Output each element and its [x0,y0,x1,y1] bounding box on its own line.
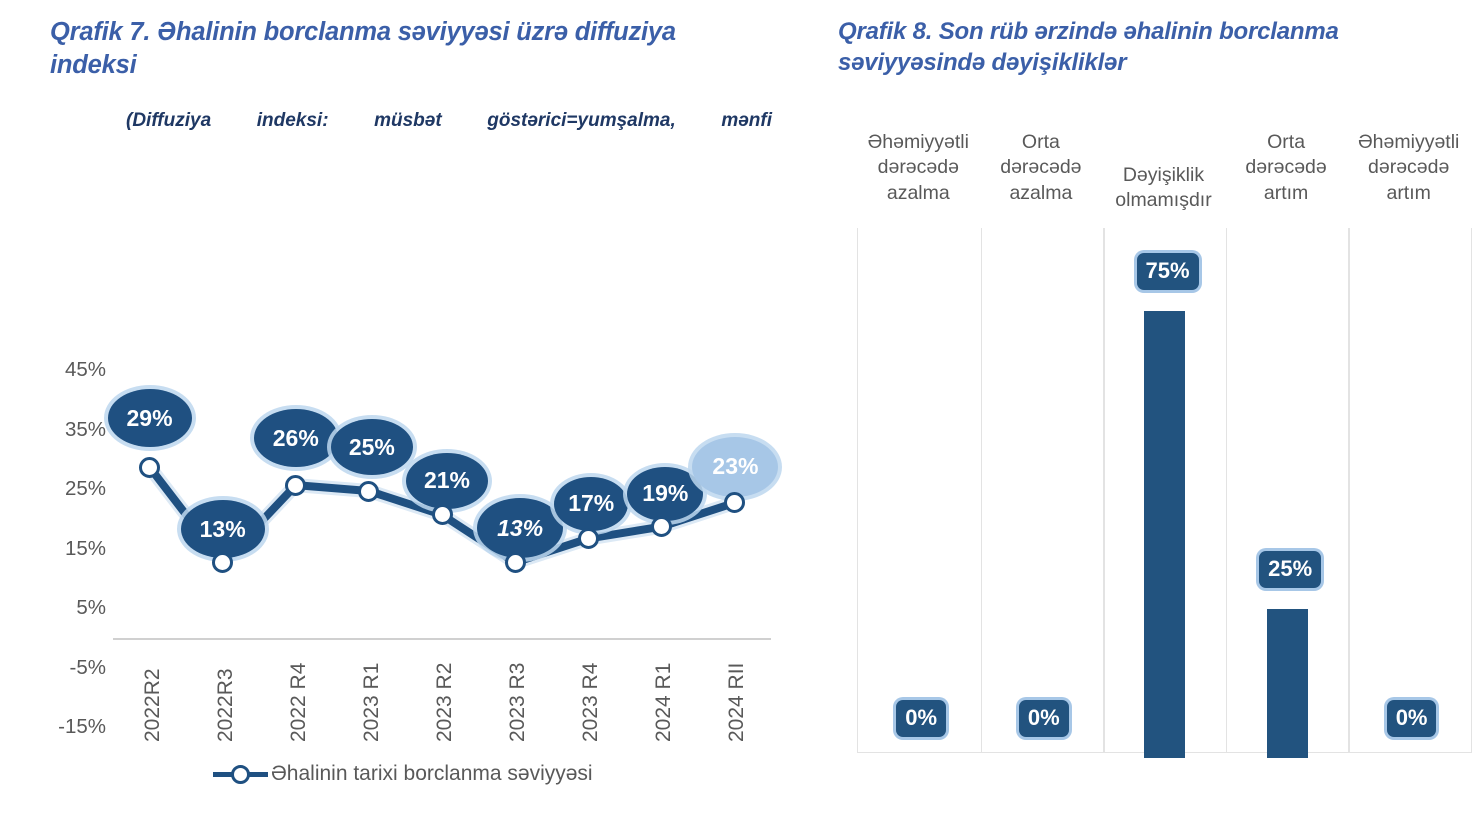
data-point-marker [432,504,453,525]
chart-legend: Əhalinin tarixi borclanma səviyyəsi [213,762,593,786]
bar-category-header: Orta dərəcədə artım [1225,130,1348,206]
bar-chart-debt-level-changes: Əhəmiyyətli dərəcədə azalmaOrta dərəcədə… [820,0,1480,830]
category-gridline [1226,228,1228,752]
x-axis-tick: 2024 RII [725,663,749,742]
x-axis-tick: 2022 R4 [287,663,311,742]
x-axis-tick: 2023 R4 [579,663,603,742]
data-label-bubble: 13% [181,500,265,558]
data-label-bubble: 23% [692,437,778,497]
bar [1267,609,1308,758]
category-gridline [1103,228,1105,752]
data-label-bubble: 25% [331,419,413,475]
data-label-bubble: 21% [406,453,488,509]
data-label-bubble: 17% [554,477,628,531]
data-point-marker [505,552,526,573]
bar-category-header: Əhəmiyyətli dərəcədə artım [1347,130,1470,206]
x-axis-tick: 2023 R3 [506,663,530,742]
data-point-marker [212,552,233,573]
bar-category-header: Orta dərəcədə azalma [980,130,1103,206]
chart-panel-qrafik-7: Qrafik 7. Əhalinin borclanma səviyyəsi ü… [0,0,820,830]
data-point-marker [578,528,599,549]
legend-label: Əhalinin tarixi borclanma səviyyəsi [271,762,593,786]
bar-value-label: 0% [1019,700,1069,737]
bar-value-label: 0% [1387,700,1437,737]
x-axis-tick: 2023 R1 [360,663,384,742]
legend-line-swatch [213,772,268,777]
data-point-marker [139,457,160,478]
category-gridline [1348,228,1350,752]
bar-plot-area: 0%0%75%25%0% [857,228,1472,753]
bar [1144,311,1185,758]
bar-value-label: 25% [1259,551,1321,588]
category-gridline [981,228,983,752]
x-axis-tick: 2022R2 [141,668,165,742]
bar-value-label: 75% [1137,253,1199,290]
x-axis-tick: 2023 R2 [433,663,457,742]
bar-category-header: Dəyişiklik olmamışdır [1102,163,1225,214]
data-point-marker [358,481,379,502]
data-label-bubble: 26% [254,409,338,467]
data-point-marker [651,516,672,537]
bar-value-label: 0% [896,700,946,737]
x-axis-tick: 2024 R1 [652,663,676,742]
chart-panel-qrafik-8: Qrafik 8. Son rüb ərzində əhalinin borcl… [820,0,1480,830]
x-axis-tick: 2022R3 [214,668,238,742]
data-point-marker [285,475,306,496]
bar-category-header: Əhəmiyyətli dərəcədə azalma [857,130,980,206]
legend-marker-icon [231,765,250,784]
line-chart-diffusion-index: 45%35%25%15%5%-5%-15% 2022R22022R32022 R… [0,0,820,830]
data-label-bubble: 29% [108,389,192,447]
data-label-bubble: 19% [627,467,703,521]
